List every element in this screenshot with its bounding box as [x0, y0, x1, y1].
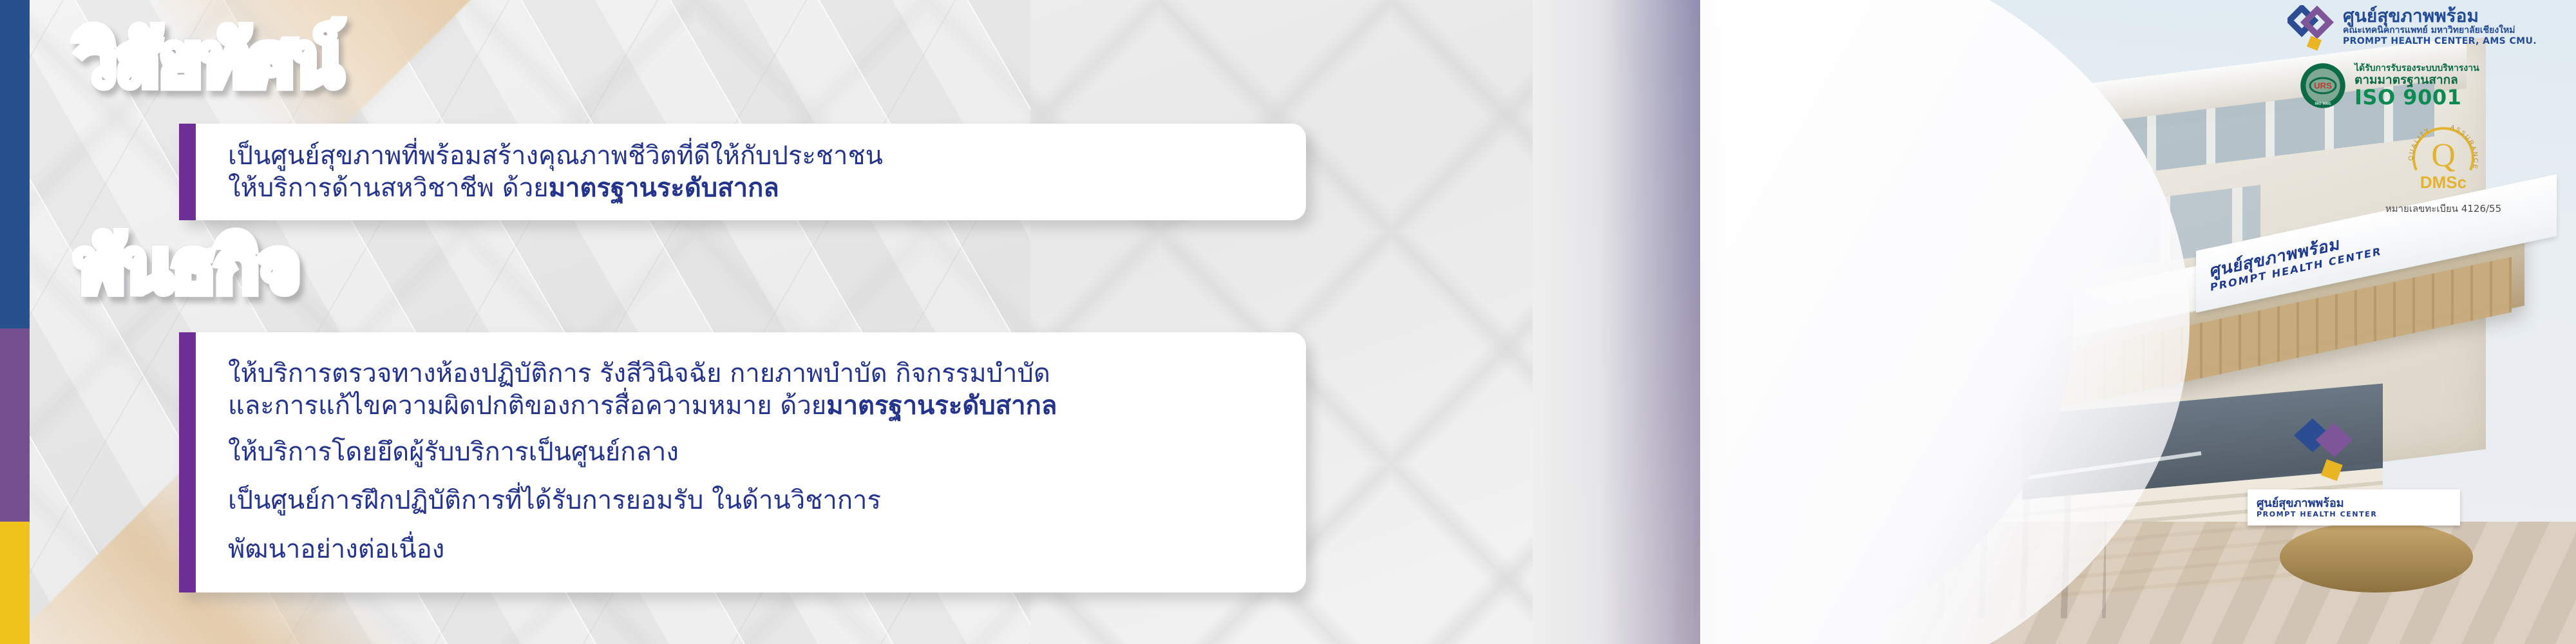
- brand-text: ศูนย์สุขภาพพร้อม คณะเทคนิคการแพทย์ มหาวิ…: [2343, 5, 2537, 47]
- mission-line: พัฒนาอย่างต่อเนื่อง: [228, 532, 1280, 567]
- photo-door-signboard: ศูนย์สุขภาพพร้อม PROMPT HEALTH CENTER: [2248, 489, 2460, 526]
- dmsc-quality-badge: QUALITY ASSURANCE Q DMSc หมายเลขทะเบียน …: [2372, 120, 2514, 216]
- mission-line-bold: มาตรฐานระดับสากล: [826, 391, 1057, 421]
- mission-line-text: ให้บริการโดยยึดผู้รับบริการเป็นศูนย์กลาง: [228, 437, 679, 467]
- brand-diamond-icon: [2287, 5, 2335, 53]
- mission-line-text: เป็นศูนย์การฝึกปฏิบัติการที่ได้รับการยอม…: [228, 486, 881, 515]
- iso-line-1: ได้รับการรับรองระบบบริหารงาน: [2354, 64, 2479, 74]
- svg-text:QUALITY: QUALITY: [2407, 126, 2432, 161]
- edge-bar-blue: [0, 0, 30, 328]
- left-edge-color-bars: [0, 0, 30, 644]
- photo-door-sign-en: PROMPT HEALTH CENTER: [2257, 510, 2377, 518]
- vision-line-bold: มาตรฐานระดับสากล: [549, 173, 779, 203]
- brand-name-en: PROMPT HEALTH CENTER, AMS CMU.: [2343, 36, 2537, 47]
- mission-line: เป็นศูนย์การฝึกปฏิบัติการที่ได้รับการยอม…: [228, 483, 1280, 518]
- edge-bar-purple: [0, 328, 30, 522]
- brand-name-th: ศูนย์สุขภาพพร้อม: [2343, 6, 2537, 25]
- photo-planter: [2280, 522, 2473, 592]
- mission-item: ให้บริการโดยยึดผู้รับบริการเป็นศูนย์กลาง: [228, 435, 1280, 470]
- vision-line-text: ให้บริการด้านสหวิชาชีพ ด้วย: [228, 173, 549, 203]
- mission-panel-body: ให้บริการตรวจทางห้องปฏิบัติการ รังสีวินิ…: [196, 332, 1306, 592]
- mission-accent-bar: [179, 332, 196, 592]
- spacer: [228, 519, 1280, 532]
- photo-left-fade: [1533, 0, 1726, 644]
- mission-line: และการแก้ไขความผิดปกติของการสื่อความหมาย…: [228, 390, 1280, 422]
- photo-door-sign-th: ศูนย์สุขภาพพร้อม: [2257, 493, 2344, 512]
- quality-assurance-q-icon: QUALITY ASSURANCE Q DMSc: [2405, 120, 2482, 197]
- svg-text:ISO 9001: ISO 9001: [2315, 102, 2332, 106]
- vision-panel-body: เป็นศูนย์สุขภาพที่พร้อมสร้างคุณภาพชีวิตท…: [196, 124, 1306, 220]
- svg-text:URS: URS: [2314, 80, 2332, 90]
- iso-standard: ISO 9001: [2354, 87, 2479, 108]
- vision-line: ให้บริการด้านสหวิชาชีพ ด้วยมาตรฐานระดับส…: [228, 172, 1280, 204]
- mission-line-text: และการแก้ไขความผิดปกติของการสื่อความหมาย…: [228, 391, 826, 421]
- mission-line: ให้บริการโดยยึดผู้รับบริการเป็นศูนย์กลาง: [228, 435, 1280, 470]
- brand-faculty-th: คณะเทคนิคการแพทย์ มหาวิทยาลัยเชียงใหม่: [2343, 25, 2537, 36]
- svg-text:Q: Q: [2431, 137, 2456, 174]
- mission-line-text: พัฒนาอย่างต่อเนื่อง: [228, 535, 444, 564]
- mission-heading: พันธกิจ: [76, 231, 299, 303]
- vision-accent-bar: [179, 124, 196, 220]
- svg-text:DMSc: DMSc: [2420, 173, 2467, 192]
- vision-line-text: เป็นศูนย์สุขภาพที่พร้อมสร้างคุณภาพชีวิตท…: [228, 141, 883, 171]
- vision-panel: เป็นศูนย์สุขภาพที่พร้อมสร้างคุณภาพชีวิตท…: [179, 124, 1306, 220]
- iso-badge-text: ได้รับการรับรองระบบบริหารงาน ตามมาตรฐานส…: [2354, 64, 2479, 108]
- photo-door-diamond-logo-icon: [2286, 412, 2363, 489]
- dmsc-registration-number: หมายเลขทะเบียน 4126/55: [2372, 201, 2514, 216]
- mission-item: พัฒนาอย่างต่อเนื่อง: [228, 532, 1280, 567]
- vision-heading: วิสัยทัศน์: [76, 24, 341, 97]
- spacer: [228, 470, 1280, 483]
- photo-bollards: [1694, 496, 2106, 618]
- banner-root: ศูนย์สุขภาพพร้อม PROMPT HEALTH CENTER ศู…: [0, 0, 2576, 644]
- mission-line: ให้บริการตรวจทางห้องปฏิบัติการ รังสีวินิ…: [228, 357, 1280, 390]
- mission-item: เป็นศูนย์การฝึกปฏิบัติการที่ได้รับการยอม…: [228, 483, 1280, 518]
- edge-bar-yellow: [0, 522, 30, 644]
- brand-logo: ศูนย์สุขภาพพร้อม คณะเทคนิคการแพทย์ มหาวิ…: [2287, 5, 2564, 53]
- iso-9001-badge: URS ISO 9001 ได้รับการรับรองระบบบริหารงา…: [2299, 62, 2557, 109]
- mission-line-text: ให้บริการตรวจทางห้องปฏิบัติการ รังสีวินิ…: [228, 359, 1050, 388]
- spacer: [228, 422, 1280, 435]
- mission-item: ให้บริการตรวจทางห้องปฏิบัติการ รังสีวินิ…: [228, 357, 1280, 422]
- urs-seal-icon: URS ISO 9001: [2299, 62, 2347, 109]
- vision-line: เป็นศูนย์สุขภาพที่พร้อมสร้างคุณภาพชีวิตท…: [228, 140, 1280, 172]
- mission-panel: ให้บริการตรวจทางห้องปฏิบัติการ รังสีวินิ…: [179, 332, 1306, 592]
